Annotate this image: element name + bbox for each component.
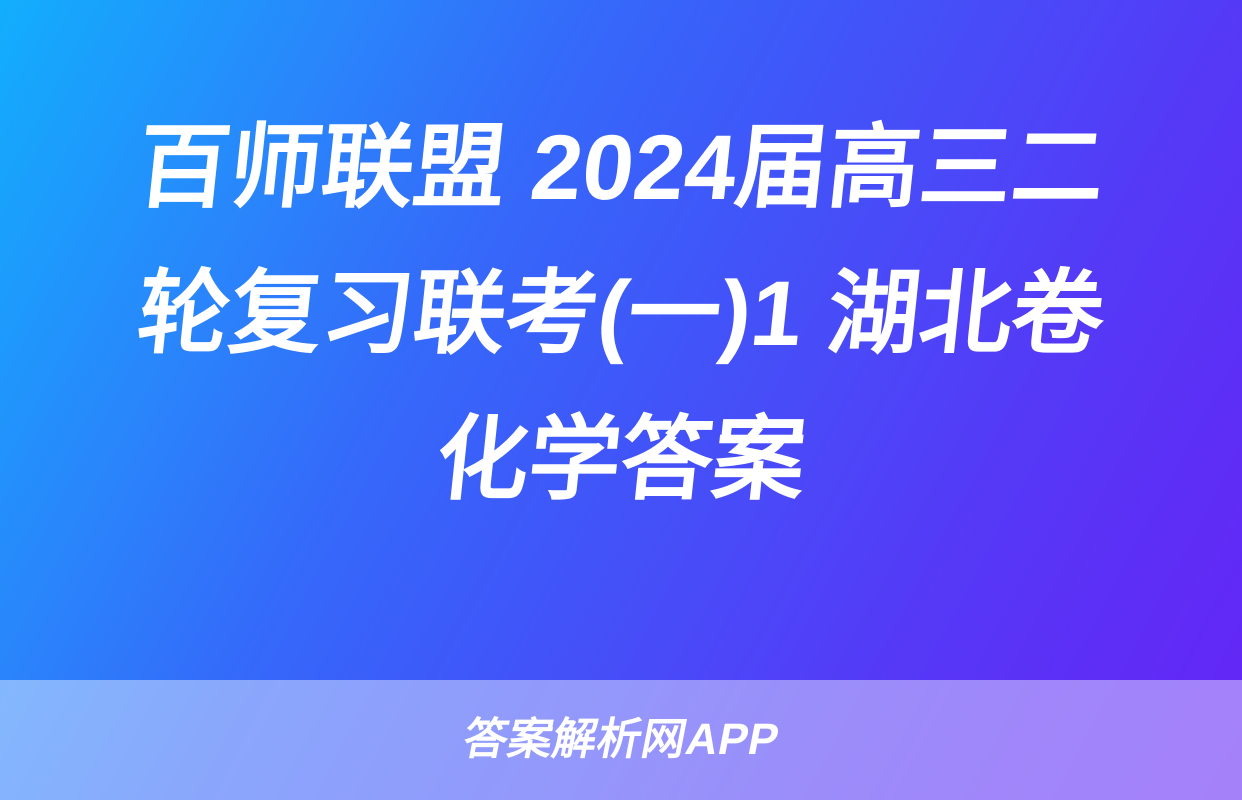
watermark-label: 答案解析网APP — [459, 715, 783, 765]
title-line-1: 百师联盟 2024届高三二 — [130, 95, 1112, 241]
title-block: 百师联盟 2024届高三二 轮复习联考(一)1 湖北卷 化学答案 — [0, 0, 1242, 680]
title-line-2: 轮复习联考(一)1 湖北卷 — [130, 241, 1111, 387]
poster-canvas: 百师联盟 2024届高三二 轮复习联考(一)1 湖北卷 化学答案 答案解析网AP… — [0, 0, 1242, 800]
footer-watermark-band: 答案解析网APP — [0, 680, 1242, 800]
title-line-3: 化学答案 — [429, 387, 812, 533]
